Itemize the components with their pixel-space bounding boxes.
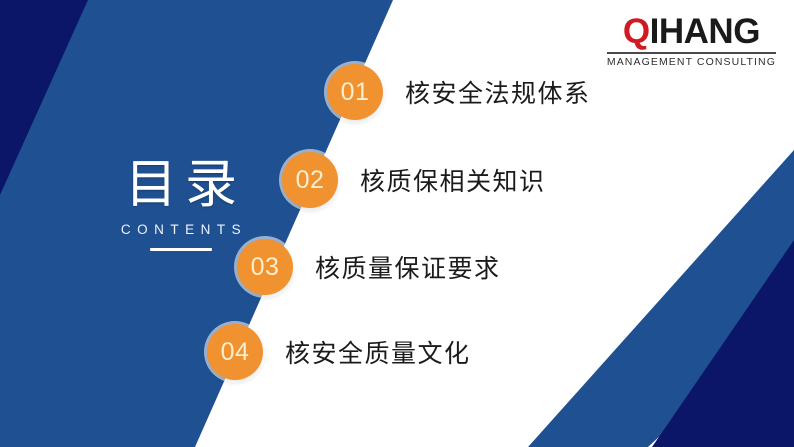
- agenda-number-badge-1: 01: [327, 64, 383, 120]
- slide-canvas: 目录 CONTENTS QIHANG MANAGEMENT CONSULTING…: [0, 0, 794, 447]
- agenda-number-badge-3: 03: [237, 239, 293, 295]
- agenda-title-4: 核安全质量文化: [285, 334, 471, 370]
- agenda-title-1: 核安全法规体系: [405, 74, 591, 110]
- agenda-number-4: 04: [221, 338, 250, 367]
- agenda-item-4[interactable]: 04 核安全质量文化: [207, 324, 471, 380]
- agenda-number-2: 02: [296, 166, 325, 195]
- agenda-number-1: 01: [341, 78, 370, 107]
- agenda-number-badge-4: 04: [207, 324, 263, 380]
- agenda-list: 01 核安全法规体系 02 核质保相关知识 03 核质量保证要求 04 核安全质…: [0, 0, 794, 447]
- agenda-number-badge-2: 02: [282, 152, 338, 208]
- agenda-title-2: 核质保相关知识: [360, 162, 546, 198]
- agenda-item-3[interactable]: 03 核质量保证要求: [237, 239, 501, 295]
- agenda-number-3: 03: [251, 253, 280, 282]
- agenda-item-2[interactable]: 02 核质保相关知识: [282, 152, 546, 208]
- agenda-title-3: 核质量保证要求: [315, 249, 501, 285]
- agenda-item-1[interactable]: 01 核安全法规体系: [327, 64, 591, 120]
